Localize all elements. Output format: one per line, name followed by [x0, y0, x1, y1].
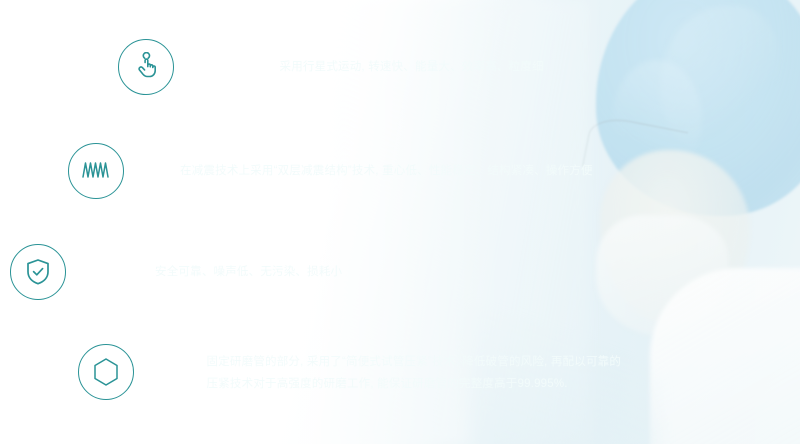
feature-text: 完整度 固定研磨管的部分, 采用了“简便式试管压紧”技术, 降低破管的风险, 再… [148, 349, 621, 395]
feature-row-safe-reliable[interactable]: 安全可靠 安全可靠、噪声低、无污染、损耗小 [10, 244, 630, 300]
feature-description: 在减震技术上采用“双层减震结构”技术, 重心低、性能稳定、结构紧凑、操作方便 [180, 163, 593, 180]
feature-title: 减震 [138, 159, 171, 183]
feature-title: 完整度 [148, 352, 198, 390]
feature-description: 固定研磨管的部分, 采用了“简便式试管压紧”技术, 降低破管的风险, 再配以可靠… [207, 352, 622, 395]
feature-title: 行星式运动 [188, 55, 271, 79]
surgical-cap-fold-1 [660, 6, 780, 156]
feature-text: 减震 在减震技术上采用“双层减震结构”技术, 重心低、性能稳定、结构紧凑、操作方… [138, 159, 593, 183]
feature-text: 行星式运动 采用行星式运动, 转速快、能量大、效率高、粒度细 [188, 55, 544, 79]
hexagon-icon [78, 344, 134, 400]
feature-text: 安全可靠 安全可靠、噪声低、无污染、损耗小 [80, 260, 342, 284]
feature-title: 安全可靠 [80, 260, 146, 284]
feature-description-line: 压紧技术对于高强度的研磨工作, 能保证研磨管的完整度高于99.995%. [207, 374, 622, 395]
feature-description: 采用行星式运动, 转速快、能量大、效率高、粒度细 [280, 59, 544, 76]
feature-row-planetary-motion[interactable]: 行星式运动 采用行星式运动, 转速快、能量大、效率高、粒度细 [118, 38, 678, 96]
feature-list-panel: 行星式运动 采用行星式运动, 转速快、能量大、效率高、粒度细 减震 在减震技术上… [0, 0, 800, 444]
feature-description-line: 固定研磨管的部分, 采用了“简便式试管压紧”技术, 降低破管的风险, 再配以可靠… [207, 352, 622, 373]
feature-row-shock-absorption[interactable]: 减震 在减震技术上采用“双层减震结构”技术, 重心低、性能稳定、结构紧凑、操作方… [68, 143, 668, 199]
shield-check-icon [10, 244, 66, 300]
hand-tap-icon [118, 39, 174, 95]
vibration-wave-icon [68, 143, 124, 199]
feature-description: 安全可靠、噪声低、无污染、损耗小 [155, 264, 342, 281]
feature-row-integrity[interactable]: 完整度 固定研磨管的部分, 采用了“简便式试管压紧”技术, 降低破管的风险, 再… [78, 339, 678, 405]
